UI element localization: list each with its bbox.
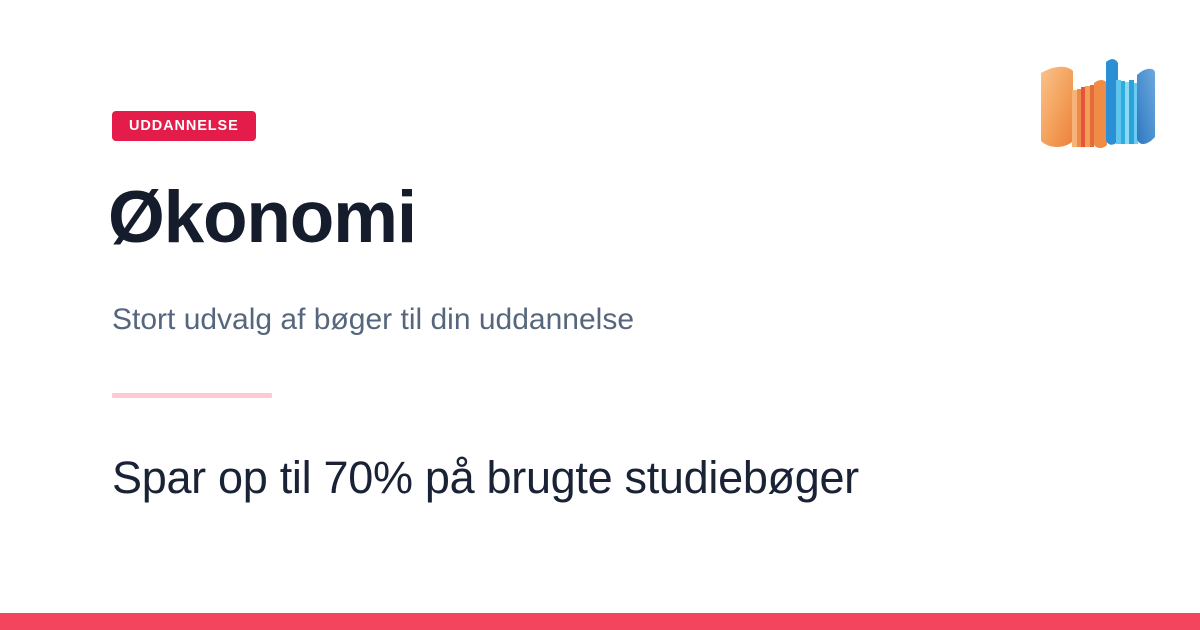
page-subtitle: Stort udvalg af bøger til din uddannelse xyxy=(112,300,634,339)
logo-blue-pages xyxy=(1116,80,1138,144)
logo-orange-pages xyxy=(1072,80,1107,148)
page-title: Økonomi xyxy=(108,180,416,257)
content-column: UDDANNELSE Økonomi Stort udvalg af bøger… xyxy=(112,0,1072,630)
og-card: UDDANNELSE Økonomi Stort udvalg af bøger… xyxy=(0,0,1200,630)
divider xyxy=(112,393,272,398)
promo-headline: Spar op til 70% på brugte studiebøger xyxy=(112,450,859,506)
category-badge: UDDANNELSE xyxy=(112,111,256,141)
bottom-accent-bar xyxy=(0,613,1200,630)
